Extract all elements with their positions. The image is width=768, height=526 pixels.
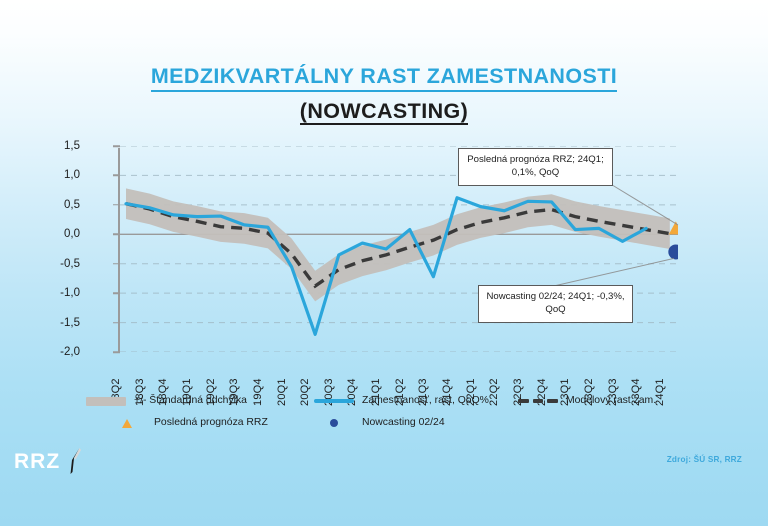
y-tick-mark <box>113 234 120 236</box>
logo-slash-icon <box>63 446 83 476</box>
legend-item[interactable]: Zamestnanosť, rast, QoQ% <box>314 396 489 406</box>
y-tick-mark <box>113 351 120 353</box>
legend-dot-icon <box>330 419 338 427</box>
legend-item[interactable]: Nowcasting 02/24 <box>314 418 445 428</box>
legend-line-swatch <box>314 399 354 403</box>
y-tick-label: 1,0 <box>20 169 80 181</box>
y-tick-label: -0,5 <box>20 258 80 270</box>
callout-nowcast: Nowcasting 02/24; 24Q1; -0,3%, QoQ <box>478 285 633 323</box>
y-tick-mark <box>113 204 120 206</box>
y-tick-label: 0,0 <box>20 228 80 240</box>
page-title: MEDZIKVARTÁLNY RAST ZAMESTNANOSTI (NOWCA… <box>0 64 768 123</box>
legend-item[interactable]: +/- Štandardná odchýlka <box>86 396 247 406</box>
legend-item[interactable]: Modelový rast zam. <box>518 396 656 406</box>
y-tick-label: -1,0 <box>20 287 80 299</box>
title-sub-text: (NOWCASTING) <box>300 99 468 125</box>
y-tick-label: 1,5 <box>20 140 80 152</box>
y-tick-mark <box>113 322 120 324</box>
legend-item-label: Nowcasting 02/24 <box>362 418 445 428</box>
y-tick-label: 0,5 <box>20 199 80 211</box>
callout-forecast: Posledná prognóza RRZ; 24Q1; 0,1%, QoQ <box>458 148 613 186</box>
source-note: Zdroj: ŠÚ SR, RRZ <box>667 455 742 464</box>
slide-canvas: MEDZIKVARTÁLNY RAST ZAMESTNANOSTI (NOWCA… <box>0 0 768 526</box>
title-sub: (NOWCASTING) <box>300 99 468 124</box>
legend-item-label: +/- Štandardná odchýlka <box>134 396 247 406</box>
y-tick-mark <box>113 263 120 265</box>
y-tick-mark <box>113 292 120 294</box>
chart-legend: +/- Štandardná odchýlkaZamestnanosť, ras… <box>86 396 686 438</box>
legend-item-label: Modelový rast zam. <box>566 396 656 406</box>
legend-item[interactable]: Posledná prognóza RRZ <box>108 418 268 428</box>
title-main: MEDZIKVARTÁLNY RAST ZAMESTNANOSTI <box>151 64 617 92</box>
legend-item-label: Posledná prognóza RRZ <box>154 418 268 428</box>
y-tick-mark <box>113 175 120 177</box>
y-tick-mark <box>113 145 120 147</box>
legend-item-label: Zamestnanosť, rast, QoQ% <box>362 396 489 406</box>
logo-text: RRZ <box>14 451 60 472</box>
y-tick-label: -2,0 <box>20 346 80 358</box>
legend-dashed-swatch <box>518 399 558 403</box>
y-tick-label: -1,5 <box>20 317 80 329</box>
legend-band-swatch <box>86 397 126 406</box>
legend-triangle-icon <box>122 419 132 428</box>
rrz-logo: RRZ <box>14 446 83 476</box>
